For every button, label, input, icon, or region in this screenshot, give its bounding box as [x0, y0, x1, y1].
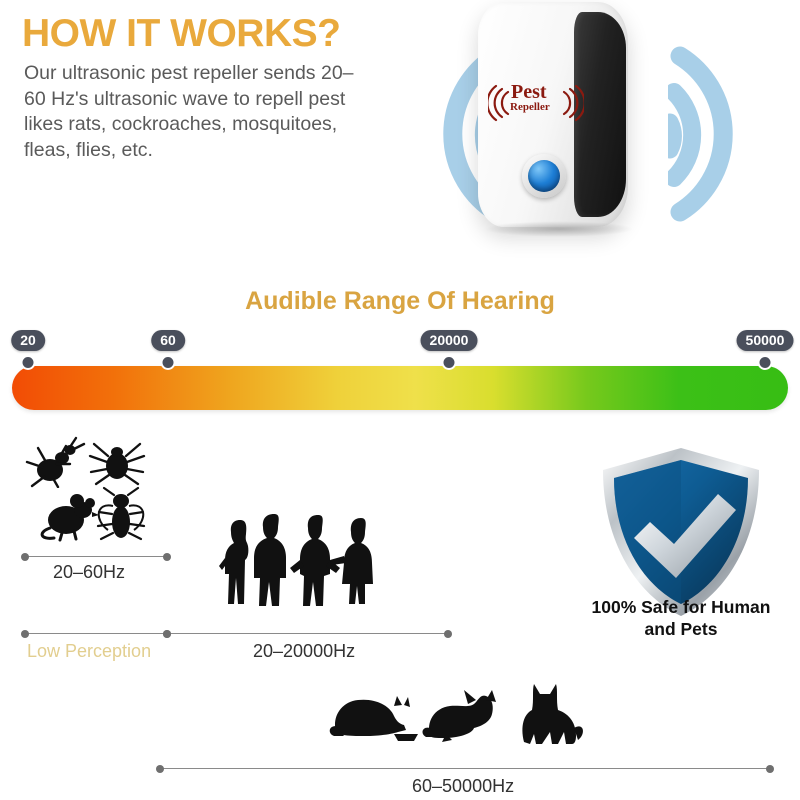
man-silhouette-icon	[254, 514, 286, 606]
measure-endpoint	[766, 765, 774, 773]
measure-endpoint	[163, 630, 171, 638]
human-silhouette-group	[218, 508, 386, 608]
range-marker-label: 60	[151, 330, 185, 351]
device-shadow	[484, 221, 634, 237]
cat-eating-icon	[330, 696, 418, 741]
spider-icon	[88, 436, 146, 486]
pest-repeller-device: Pest Repeller	[478, 2, 643, 242]
safety-caption: 100% Safe for Human and Pets	[586, 596, 776, 640]
measure-line-low-perception	[25, 633, 167, 634]
low-perception-label: Low Perception	[27, 641, 151, 662]
measure-line-pets	[160, 768, 770, 769]
cockroach-icon	[92, 486, 150, 542]
hero-description: Our ultrasonic pest repeller sends 20–60…	[24, 61, 364, 163]
ant-icon	[24, 436, 86, 488]
device-logo-main: Pest	[511, 82, 547, 102]
device-logo-sub: Repeller	[510, 101, 550, 113]
range-marker-label: 20	[11, 330, 45, 351]
woman-standing-silhouette-icon	[330, 518, 373, 604]
range-marker-dot	[21, 355, 36, 370]
measure-endpoint	[163, 553, 171, 561]
infographic-page: HOW IT WORKS? Our ultrasonic pest repell…	[0, 0, 800, 800]
pet-silhouette-group	[328, 676, 588, 756]
measure-endpoint	[444, 630, 452, 638]
range-marker-dot	[161, 355, 176, 370]
range-marker-dot	[758, 355, 773, 370]
pet-range-label: 60–50000Hz	[412, 776, 514, 797]
dog-lying-icon	[423, 690, 496, 742]
woman-silhouette-icon	[219, 520, 248, 604]
frequency-gradient-bar	[12, 366, 788, 410]
human-range-label: 20–20000Hz	[253, 641, 355, 662]
pest-icon-group	[22, 436, 148, 542]
hero-section: HOW IT WORKS? Our ultrasonic pest repell…	[0, 0, 800, 268]
range-marker-label: 50000	[737, 330, 794, 351]
range-marker-label: 20000	[421, 330, 478, 351]
rat-icon	[36, 488, 100, 542]
range-section-title: Audible Range Of Hearing	[0, 287, 800, 316]
page-title: HOW IT WORKS?	[22, 12, 340, 56]
device-logo: Pest Repeller	[488, 80, 584, 128]
ultrasonic-waves-right	[668, 0, 798, 268]
device-power-button[interactable]	[522, 154, 566, 198]
measure-endpoint	[21, 630, 29, 638]
measure-line-pests	[25, 556, 167, 557]
measure-endpoint	[21, 553, 29, 561]
range-marker-dot	[442, 355, 457, 370]
pest-range-label: 20–60Hz	[53, 562, 125, 583]
measure-endpoint	[156, 765, 164, 773]
measure-line-humans	[167, 633, 448, 634]
cat-standing-icon	[522, 684, 583, 744]
safety-caption-line1: 100% Safe for	[592, 597, 707, 617]
